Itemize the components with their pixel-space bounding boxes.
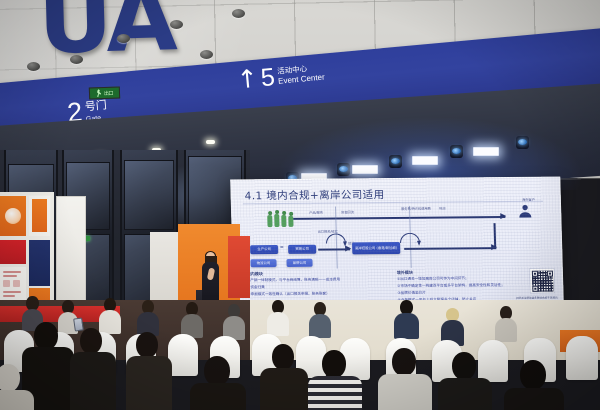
audience-head: [80, 328, 102, 354]
audience-head: [392, 348, 416, 376]
diagram-box-brand: 品牌公司: [286, 259, 312, 267]
event-center-number: 5: [260, 66, 276, 90]
audience-torso: [394, 313, 419, 339]
right-column-heading: 境外模块: [397, 270, 413, 276]
event-center-sign: ↑ 5 活动中心 Event Center: [236, 62, 325, 92]
wash-light-panel: [412, 156, 438, 165]
equals-icon: =: [280, 245, 284, 251]
flow-arc-left: [326, 233, 346, 243]
moving-head-light: [516, 136, 529, 149]
flow-caption-mid-1: 出口报关/收汇: [318, 229, 338, 234]
moving-head-light: [450, 145, 463, 158]
ceiling-vent-icon: [232, 9, 245, 18]
audience-head: [452, 352, 476, 380]
running-person-icon: [96, 89, 102, 97]
flow-caption-top-1: 产品/服务: [309, 210, 323, 215]
right-bullet: ①出口通关—增加离岸公司可作为中间环节；: [397, 276, 469, 282]
ceiling-vent-icon: [117, 34, 130, 43]
exit-sign-label: 出口: [104, 89, 113, 96]
emergency-exit-sign: 出口: [89, 86, 120, 99]
right-bullet: ③品牌价值溢价片: [397, 291, 426, 296]
moving-head-light: [337, 163, 350, 176]
wash-light-panel: [473, 147, 499, 156]
audience-head: [34, 322, 58, 350]
slide-title: 4.1 境内合规+离岸公司适用: [244, 187, 384, 203]
ceiling-vent-icon: [27, 62, 40, 71]
qr-eye: [546, 270, 552, 276]
booth-logo-icon: [5, 208, 21, 224]
booth-thumb: [13, 280, 20, 287]
led-presentation-screen: 4.1 境内合规+离岸公司适用 产品/服务 资金回流 服务费/特许权使用费 利润…: [230, 177, 564, 308]
flow-arrow-lower-left: [318, 248, 350, 250]
people-group-icon: [265, 209, 296, 227]
audience-head: [0, 364, 20, 392]
audience-chair: [478, 340, 508, 382]
audience-torso: [438, 378, 492, 410]
booth-side-banner: [56, 196, 86, 308]
door-glass-pane: [124, 160, 174, 230]
diagram-box-production: 生产公司: [250, 245, 278, 254]
flow-caption-mid-4: 利润: [439, 206, 446, 211]
audience-torso: [308, 376, 362, 410]
audience-torso: [190, 383, 246, 410]
audience-torso: [309, 314, 331, 338]
venue-logo: UA: [37, 0, 175, 75]
return-riser: [494, 223, 496, 249]
flow-caption-top-2: 资金回流: [341, 209, 354, 214]
audience-torso: [267, 312, 289, 336]
qr-eye: [532, 285, 538, 291]
audience-head: [322, 350, 346, 378]
arrow-up-icon: ↑: [236, 69, 259, 91]
customer-label: 海外客户: [522, 197, 535, 202]
flow-arrow-top: [293, 216, 505, 219]
exhibition-hall-photo: UA 2 号门 Gate ↑ 5 活动中心 Event Center 出口: [0, 0, 600, 410]
ceiling-vent-icon: [200, 50, 213, 59]
audience-head: [520, 360, 546, 390]
booth-text-line: [3, 295, 15, 297]
ceiling-vent-icon: [70, 55, 83, 64]
diagram-box-trading: 贸易公司: [288, 245, 316, 254]
flow-arc-right: [400, 233, 420, 243]
flow-caption-mid-3: 服务费/特许权使用费: [401, 206, 431, 211]
moving-head-light: [389, 155, 402, 168]
audience-head: [272, 344, 294, 370]
wash-light-panel: [352, 165, 378, 174]
diagram-box-logistics: 物流公司: [250, 259, 276, 267]
audience-head: [204, 356, 230, 386]
qr-eye: [531, 270, 537, 276]
booth-panel-orange-right: [32, 199, 47, 232]
booth-panel-navy: [29, 240, 50, 286]
right-bullet: ②市场不确定性—构建双平台或多平台架构，提高安全性和灵活性；: [397, 283, 505, 289]
stage-backdrop-red: [228, 236, 250, 298]
audience-torso: [504, 388, 564, 410]
audience-head: [136, 332, 158, 358]
ceiling-light: [206, 140, 215, 144]
smartphone[interactable]: [73, 317, 84, 331]
audience-torso: [378, 374, 432, 410]
qr-code: [530, 269, 555, 293]
booth-text-line: [3, 271, 21, 273]
audience-torso: [260, 368, 308, 410]
audience-torso: [99, 310, 121, 334]
audience-torso: [70, 352, 116, 410]
audience-torso: [0, 390, 34, 410]
customer-icon: [517, 203, 533, 219]
audience-torso: [126, 356, 172, 410]
audience-chair: [566, 336, 598, 380]
left-bullet: ③申报模式一致性确认（出口报关申报、账务账套）: [247, 292, 329, 298]
booth-text-line: [3, 275, 17, 277]
booth-thumb: [3, 280, 10, 287]
ceiling-vent-icon: [170, 20, 183, 29]
booth-text-line: [3, 291, 21, 293]
gate-label-zh: 号门: [84, 100, 107, 115]
audience-torso: [495, 318, 517, 342]
diagram-box-offshore-holding: 离岸控股公司 (香港/新加坡): [352, 242, 400, 254]
audience-chair: [168, 334, 198, 376]
left-bullet: ①产销一体制模式，与平台商结算，账务清晰——成本费用: [247, 277, 340, 283]
booth-panel-red: [0, 240, 26, 264]
flow-arrow-lower-right: [404, 247, 496, 249]
